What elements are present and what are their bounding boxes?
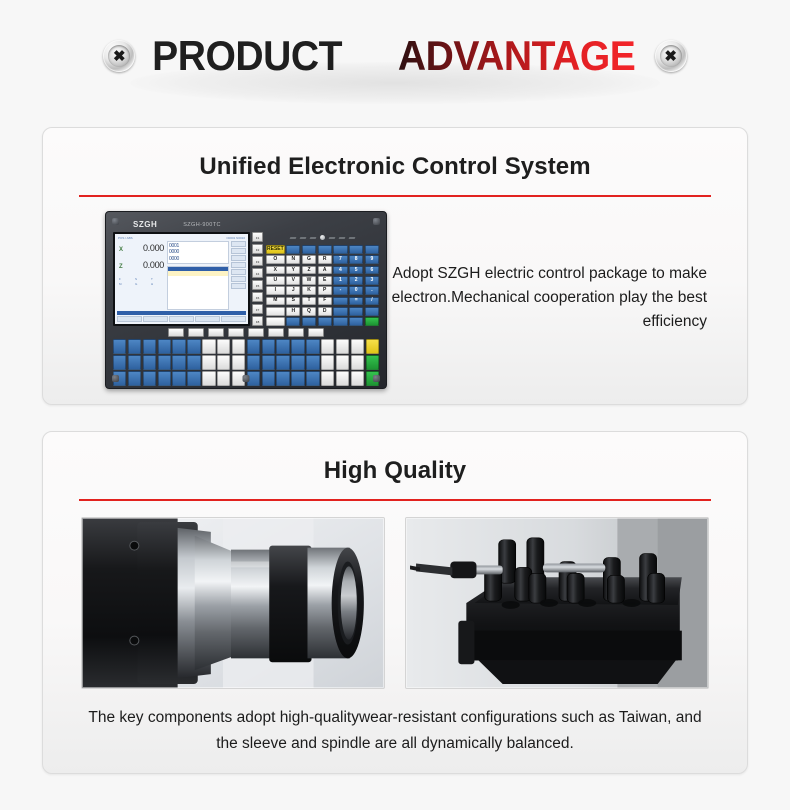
- panel-machine-key[interactable]: [306, 355, 319, 370]
- lcd-axis-value: 0.000: [143, 260, 164, 270]
- card-body-text: Adopt SZGH electric control package to m…: [350, 262, 725, 338]
- panel-key[interactable]: S: [286, 297, 300, 306]
- panel-key[interactable]: E: [318, 276, 332, 285]
- lcd-side-button: [231, 255, 246, 261]
- feature-card-high-quality: High Quality: [42, 431, 748, 774]
- panel-machine-key[interactable]: [247, 355, 260, 370]
- lcd-header-right: O0001 N0010: [226, 236, 245, 240]
- screw-x-glyph: ✖: [655, 40, 687, 72]
- lcd-side-button: [231, 276, 246, 282]
- panel-key[interactable]: [266, 317, 285, 326]
- panel-keypad-area: RESETONGR789XYZA456UVWE123IJKP-0.MSTF=/H…: [266, 232, 379, 326]
- panel-key[interactable]: [286, 317, 300, 326]
- lcd-program-highlight: [168, 271, 228, 276]
- lcd-axis-row: Z 0.000: [119, 260, 164, 270]
- panel-key[interactable]: A: [318, 266, 332, 275]
- panel-machine-key[interactable]: [172, 339, 185, 354]
- panel-key[interactable]: F: [318, 297, 332, 306]
- panel-machine-key[interactable]: [158, 355, 171, 370]
- panel-machine-key[interactable]: [158, 371, 171, 386]
- panel-machine-key[interactable]: [366, 355, 379, 370]
- panel-machine-key[interactable]: [143, 339, 156, 354]
- card-body: SZGH SZGH-900TC POS / ABS O0001 N0010: [43, 197, 747, 389]
- panel-machine-key[interactable]: [262, 355, 275, 370]
- panel-key[interactable]: 0: [349, 286, 363, 295]
- panel-key[interactable]: [333, 307, 347, 316]
- panel-key[interactable]: [266, 307, 285, 316]
- panel-key[interactable]: 7: [333, 255, 347, 264]
- panel-machine-key[interactable]: [217, 371, 230, 386]
- lcd-screen: POS / ABS O0001 N0010 X 0.000: [113, 232, 250, 326]
- panel-machine-key[interactable]: [351, 371, 364, 386]
- panel-key[interactable]: U: [266, 276, 285, 285]
- panel-machine-key[interactable]: [143, 371, 156, 386]
- panel-machine-key[interactable]: [113, 355, 126, 370]
- panel-key[interactable]: K: [302, 286, 316, 295]
- panel-machine-key[interactable]: [128, 355, 141, 370]
- panel-function-key[interactable]: F8: [252, 316, 263, 326]
- panel-key[interactable]: [349, 317, 363, 326]
- panel-bolt-icon: [112, 218, 119, 225]
- panel-soft-key[interactable]: [248, 328, 264, 337]
- panel-soft-key[interactable]: [268, 328, 284, 337]
- lcd-softkey: [143, 316, 168, 322]
- panel-machine-key[interactable]: [351, 355, 364, 370]
- panel-key[interactable]: 9: [365, 255, 379, 264]
- panel-key[interactable]: 4: [333, 266, 347, 275]
- panel-key[interactable]: Y: [286, 266, 300, 275]
- panel-soft-key[interactable]: [188, 328, 204, 337]
- panel-key[interactable]: [365, 307, 379, 316]
- panel-machine-key[interactable]: [321, 355, 334, 370]
- panel-key[interactable]: P: [318, 286, 332, 295]
- panel-key[interactable]: [286, 245, 300, 254]
- panel-bolt-icon: [243, 375, 250, 382]
- panel-machine-key[interactable]: [336, 355, 349, 370]
- panel-key[interactable]: 5: [349, 266, 363, 275]
- panel-soft-key[interactable]: [288, 328, 304, 337]
- panel-machine-key[interactable]: [217, 339, 230, 354]
- panel-key[interactable]: [302, 245, 316, 254]
- panel-key[interactable]: V: [286, 276, 300, 285]
- screw-x-glyph: ✖: [103, 40, 135, 72]
- lcd-side-button: [231, 248, 246, 254]
- lcd-side-buttons: [230, 241, 246, 310]
- panel-key[interactable]: /: [365, 297, 379, 306]
- panel-key[interactable]: [333, 297, 347, 306]
- panel-machine-key[interactable]: [276, 355, 289, 370]
- panel-machine-key[interactable]: [202, 355, 215, 370]
- dial-tick-icon: [329, 237, 336, 239]
- panel-key[interactable]: 1: [333, 276, 347, 285]
- feature-card-control-system: Unified Electronic Control System SZGH S…: [42, 127, 748, 405]
- card-photo-row: [43, 501, 747, 689]
- panel-function-key[interactable]: F1: [252, 232, 263, 242]
- panel-key[interactable]: W: [302, 276, 316, 285]
- panel-machine-key[interactable]: [232, 339, 245, 354]
- lcd-coordinate-block: X 0.000 Z 0.000 F S: [117, 241, 166, 310]
- panel-machine-key[interactable]: [187, 371, 200, 386]
- panel-key[interactable]: =: [349, 297, 363, 306]
- panel-machine-key[interactable]: [202, 371, 215, 386]
- panel-key[interactable]: .: [365, 286, 379, 295]
- panel-key[interactable]: I: [266, 286, 285, 295]
- panel-key[interactable]: H: [286, 307, 300, 316]
- lcd-sub-label: H: [151, 282, 164, 286]
- panel-bolt-icon: [112, 375, 119, 382]
- panel-key[interactable]: 2: [349, 276, 363, 285]
- lcd-sub-labels: F S T M G H: [119, 277, 164, 286]
- page-title-red: ADVANTAGE: [397, 35, 638, 77]
- dial-knob-icon: [320, 235, 325, 240]
- lcd-softkey: [117, 316, 142, 322]
- spindle-illustration: [82, 518, 384, 688]
- panel-key[interactable]: N: [286, 255, 300, 264]
- panel-key[interactable]: J: [286, 286, 300, 295]
- panel-machine-key[interactable]: [128, 339, 141, 354]
- panel-key[interactable]: [333, 245, 347, 254]
- panel-key[interactable]: 3: [365, 276, 379, 285]
- panel-function-key[interactable]: F7: [252, 304, 263, 314]
- panel-key[interactable]: M: [266, 297, 285, 306]
- lcd-side-button: [231, 241, 246, 247]
- panel-machine-key[interactable]: [276, 371, 289, 386]
- panel-machine-key[interactable]: [247, 339, 260, 354]
- lcd-sub-label: M: [119, 282, 132, 286]
- page-header: ✖ PRODUCT ADVANTAGE ✖: [0, 0, 790, 112]
- panel-key[interactable]: RESET: [266, 245, 285, 254]
- panel-key[interactable]: [318, 317, 332, 326]
- panel-feed-override-dial: [266, 232, 379, 243]
- lcd-axis-row: X 0.000: [119, 243, 164, 253]
- lcd-sub-label: S: [135, 277, 148, 281]
- panel-key[interactable]: Q: [302, 307, 316, 316]
- screw-cross-icon-right: ✖: [655, 40, 687, 72]
- turret-illustration: [406, 518, 708, 688]
- panel-key[interactable]: D: [318, 307, 332, 316]
- panel-machine-key[interactable]: [366, 339, 379, 354]
- panel-key[interactable]: T: [302, 297, 316, 306]
- panel-machine-key[interactable]: [128, 371, 141, 386]
- panel-machine-key[interactable]: [143, 355, 156, 370]
- panel-machine-key[interactable]: [336, 371, 349, 386]
- panel-machine-key[interactable]: [217, 355, 230, 370]
- lcd-readout-line: 0000: [169, 256, 227, 262]
- lcd-header-left: POS / ABS: [118, 236, 133, 240]
- spindle-sleeve-photo: [81, 517, 385, 689]
- panel-key[interactable]: R: [318, 255, 332, 264]
- card-title: High Quality: [43, 432, 747, 485]
- lcd-sub-label: T: [151, 277, 164, 281]
- panel-keypad-grid: RESETONGR789XYZA456UVWE123IJKP-0.MSTF=/H…: [266, 245, 379, 326]
- lcd-softkey: [195, 316, 220, 322]
- card-caption-text: The key components adopt high-qualitywea…: [43, 689, 747, 758]
- panel-machine-key[interactable]: [291, 339, 304, 354]
- header-title-group: ✖ PRODUCT ADVANTAGE ✖: [103, 35, 686, 77]
- panel-machine-key[interactable]: [232, 355, 245, 370]
- panel-main-area: POS / ABS O0001 N0010 X 0.000: [111, 232, 381, 326]
- panel-machine-key[interactable]: [321, 339, 334, 354]
- page-title-dark: PRODUCT: [151, 35, 345, 77]
- lcd-axis-label: X: [119, 247, 123, 253]
- lcd-sub-label: F: [119, 277, 132, 281]
- lcd-softkey: [169, 316, 194, 322]
- card-title: Unified Electronic Control System: [43, 128, 747, 181]
- panel-key[interactable]: -: [333, 286, 347, 295]
- panel-key[interactable]: 8: [349, 255, 363, 264]
- panel-machine-key[interactable]: [262, 339, 275, 354]
- lcd-side-button: [231, 269, 246, 275]
- panel-machine-key[interactable]: [306, 339, 319, 354]
- panel-key[interactable]: [333, 317, 347, 326]
- panel-machine-key[interactable]: [306, 371, 319, 386]
- panel-machine-key[interactable]: [291, 371, 304, 386]
- panel-machine-key[interactable]: [187, 339, 200, 354]
- panel-function-key[interactable]: F5: [252, 280, 263, 290]
- panel-key[interactable]: [365, 317, 379, 326]
- lcd-status-bar: [117, 311, 246, 315]
- lcd-sub-label: G: [135, 282, 148, 286]
- panel-machine-key[interactable]: [262, 371, 275, 386]
- panel-machine-key[interactable]: [187, 355, 200, 370]
- panel-machine-key[interactable]: [202, 339, 215, 354]
- lcd-axis-value: 0.000: [143, 243, 164, 253]
- panel-key[interactable]: [349, 307, 363, 316]
- panel-soft-key[interactable]: [208, 328, 224, 337]
- panel-key[interactable]: 6: [365, 266, 379, 275]
- lcd-program-pane: [167, 266, 229, 310]
- panel-key[interactable]: Z: [302, 266, 316, 275]
- panel-soft-key[interactable]: [308, 328, 324, 337]
- panel-machine-key[interactable]: [351, 339, 364, 354]
- lcd-axis-label: Z: [119, 264, 123, 270]
- panel-key[interactable]: O: [266, 255, 285, 264]
- lcd-side-button: [231, 262, 246, 268]
- panel-machine-key[interactable]: [276, 339, 289, 354]
- lcd-softkey: [221, 316, 246, 322]
- cnc-panel-image-wrap: SZGH SZGH-900TC POS / ABS O0001 N0010: [65, 211, 350, 389]
- panel-machine-key[interactable]: [336, 339, 349, 354]
- panel-soft-key[interactable]: [228, 328, 244, 337]
- dial-tick-icon: [339, 237, 346, 239]
- panel-key[interactable]: G: [302, 255, 316, 264]
- cnc-control-panel: SZGH SZGH-900TC POS / ABS O0001 N0010: [105, 211, 387, 389]
- panel-key[interactable]: [349, 245, 363, 254]
- panel-key[interactable]: X: [266, 266, 285, 275]
- panel-soft-key-row: [113, 328, 379, 337]
- panel-machine-key[interactable]: [321, 371, 334, 386]
- dial-tick-icon: [310, 237, 317, 239]
- panel-function-key[interactable]: F4: [252, 268, 263, 278]
- panel-brand-bar: SZGH SZGH-900TC: [111, 217, 381, 232]
- dial-tick-icon: [290, 237, 297, 239]
- lcd-side-button: [231, 283, 246, 289]
- panel-brand-logo: SZGH: [133, 220, 157, 229]
- panel-bolt-icon: [373, 218, 380, 225]
- panel-model-label: SZGH-900TC: [183, 222, 221, 228]
- panel-function-key[interactable]: F2: [252, 244, 263, 254]
- lcd-softkey-row: [117, 316, 246, 322]
- panel-machine-key[interactable]: [291, 355, 304, 370]
- screw-cross-icon-left: ✖: [103, 40, 135, 72]
- tool-turret-photo: [405, 517, 709, 689]
- panel-function-key[interactable]: F3: [252, 256, 263, 266]
- panel-screen-area: POS / ABS O0001 N0010 X 0.000: [113, 232, 263, 326]
- panel-function-key[interactable]: F6: [252, 292, 263, 302]
- panel-bolt-icon: [373, 375, 380, 382]
- panel-key[interactable]: [318, 245, 332, 254]
- lcd-right-block: 0001 0000 0000: [167, 241, 229, 310]
- dial-tick-icon: [349, 237, 356, 239]
- panel-key[interactable]: [302, 317, 316, 326]
- panel-machine-key[interactable]: [158, 339, 171, 354]
- lcd-body: X 0.000 Z 0.000 F S: [117, 241, 246, 310]
- panel-machine-key[interactable]: [113, 339, 126, 354]
- lcd-readout-block: 0001 0000 0000: [167, 241, 229, 264]
- dial-tick-icon: [300, 237, 307, 239]
- panel-machine-key[interactable]: [172, 371, 185, 386]
- panel-machine-key[interactable]: [172, 355, 185, 370]
- panel-function-key-column: F1F2F3F4F5F6F7F8: [252, 232, 263, 326]
- panel-key[interactable]: [365, 245, 379, 254]
- panel-soft-key[interactable]: [168, 328, 184, 337]
